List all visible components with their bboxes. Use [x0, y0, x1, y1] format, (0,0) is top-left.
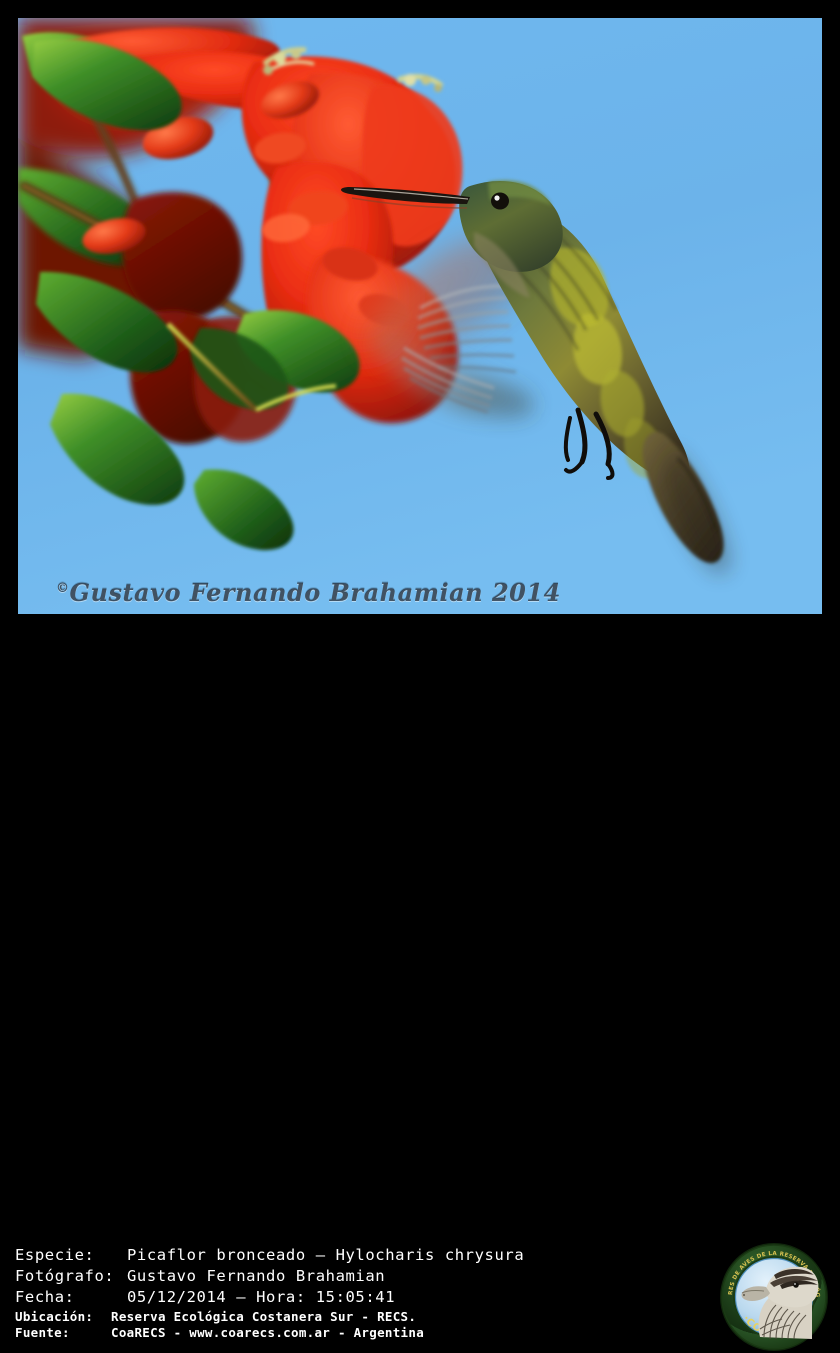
- value-especie: Picaflor bronceado — Hylocharis chrysura: [127, 1246, 524, 1264]
- coa-recs-badge-icon: CLUB DE OBSERVADORES DE AVES DE LA RESER…: [718, 1241, 830, 1353]
- value-ubicacion: Reserva Ecológica Costanera Sur - RECS.: [111, 1309, 416, 1324]
- value-fuente: CoaRECS - www.coarecs.com.ar - Argentina: [111, 1325, 424, 1340]
- bird-eye: [491, 193, 509, 210]
- photo-canvas: [18, 18, 822, 614]
- value-fecha: 05/12/2014 — Hora: 15:05:41: [127, 1288, 395, 1306]
- caption-row-fuente: Fuente:CoaRECS - www.coarecs.com.ar - Ar…: [15, 1325, 424, 1340]
- caption-row-fotografo: Fotógrafo:Gustavo Fernando Brahamian: [15, 1267, 385, 1285]
- label-fuente: Fuente:: [15, 1325, 111, 1340]
- caption-row-fecha: Fecha:05/12/2014 — Hora: 15:05:41: [15, 1288, 395, 1306]
- label-especie: Especie:: [15, 1246, 127, 1264]
- label-ubicacion: Ubicación:: [15, 1309, 111, 1324]
- label-fecha: Fecha:: [15, 1288, 127, 1306]
- photo-artwork: [18, 18, 822, 614]
- value-fotografo: Gustavo Fernando Brahamian: [127, 1267, 385, 1285]
- caption-row-ubicacion: Ubicación:Reserva Ecológica Costanera Su…: [15, 1309, 416, 1324]
- photograph: ©Gustavo Fernando Brahamian 2014: [18, 18, 822, 614]
- caption-row-especie: Especie:Picaflor bronceado — Hylocharis …: [15, 1246, 524, 1264]
- label-fotografo: Fotógrafo:: [15, 1267, 127, 1285]
- caption-panel: Especie:Picaflor bronceado — Hylocharis …: [0, 614, 840, 735]
- coa-recs-logo[interactable]: CLUB DE OBSERVADORES DE AVES DE LA RESER…: [718, 1241, 830, 1353]
